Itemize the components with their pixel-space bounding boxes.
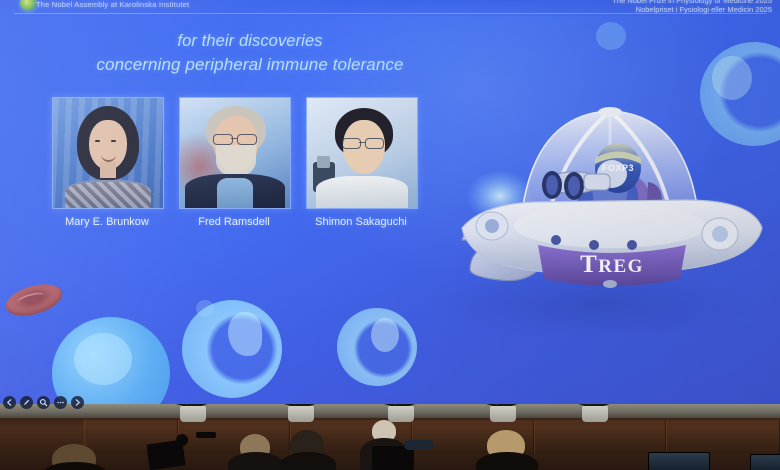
back-icon[interactable] bbox=[3, 396, 16, 409]
background-cell-small-2 bbox=[196, 300, 214, 317]
search-icon[interactable] bbox=[37, 396, 50, 409]
potted-plant bbox=[566, 404, 624, 416]
foxp3-helmet-label: FOXP3 bbox=[602, 163, 634, 173]
potted-plant bbox=[164, 404, 222, 416]
audience-person bbox=[476, 452, 538, 470]
microphone bbox=[196, 432, 216, 438]
slide-header: The Nobel Assembly at Karolinska Institu… bbox=[0, 0, 780, 16]
auditorium bbox=[0, 404, 780, 470]
red-blood-cell bbox=[2, 279, 65, 322]
potted-plant bbox=[474, 404, 532, 416]
monitor bbox=[648, 452, 710, 470]
wood-panel bbox=[178, 420, 290, 454]
background-cell-2 bbox=[182, 300, 282, 398]
background-cell-1 bbox=[52, 317, 170, 404]
headline-line-2: concerning peripheral immune tolerance bbox=[40, 53, 460, 76]
potted-plant bbox=[372, 404, 430, 416]
media-toolbar[interactable] bbox=[3, 396, 84, 409]
laureate-name: Mary E. Brunkow bbox=[52, 216, 162, 228]
laureate-name: Shimon Sakaguchi bbox=[306, 216, 416, 228]
more-icon[interactable] bbox=[54, 396, 67, 409]
background-cell-3 bbox=[337, 308, 417, 386]
laureate-list: Mary E. Brunkow Fred Ramsdell bbox=[52, 97, 416, 228]
audience-person bbox=[280, 452, 336, 470]
microphone bbox=[404, 440, 434, 450]
headline-line-1: for their discoveries bbox=[40, 30, 460, 53]
laureate-portrait bbox=[306, 97, 418, 209]
wood-panel bbox=[666, 420, 780, 454]
camera-lens bbox=[176, 434, 188, 446]
laureate-portrait bbox=[52, 97, 164, 209]
nobel-logo-icon bbox=[20, 0, 37, 11]
prize-title-block: The Nobel Prize in Physiology or Medicin… bbox=[612, 0, 772, 14]
laureate-portrait bbox=[179, 97, 291, 209]
treg-spaceship-illustration: FOXP3 bbox=[452, 100, 772, 295]
forward-icon[interactable] bbox=[71, 396, 84, 409]
wood-panel bbox=[534, 420, 666, 454]
laureate-item: Mary E. Brunkow bbox=[52, 97, 162, 228]
screenshot-root: The Nobel Assembly at Karolinska Institu… bbox=[0, 0, 780, 470]
audience-person bbox=[228, 452, 284, 470]
treg-ship-label: TREG bbox=[580, 251, 644, 278]
monitor bbox=[750, 454, 780, 470]
nobel-assembly-label: The Nobel Assembly at Karolinska Institu… bbox=[36, 0, 189, 9]
laureate-name: Fred Ramsdell bbox=[179, 216, 289, 228]
laureate-item: Shimon Sakaguchi bbox=[306, 97, 416, 228]
header-divider bbox=[14, 13, 766, 14]
background-cell-small-1 bbox=[596, 22, 626, 50]
potted-plant bbox=[272, 404, 330, 416]
laureate-item: Fred Ramsdell bbox=[179, 97, 289, 228]
page-title: for their discoveries concerning periphe… bbox=[40, 30, 460, 76]
projection-screen: The Nobel Assembly at Karolinska Institu… bbox=[0, 0, 780, 404]
edit-icon[interactable] bbox=[20, 396, 33, 409]
